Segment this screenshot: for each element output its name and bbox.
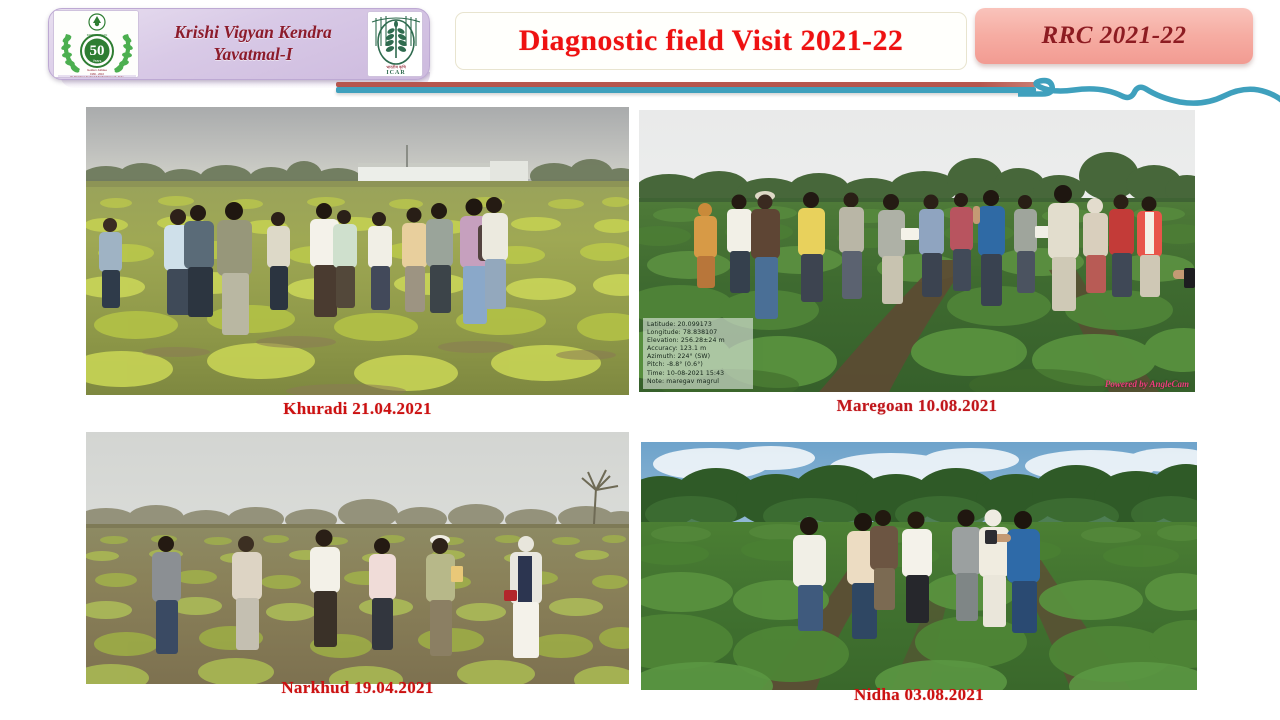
rrc-badge-label: RRC 2021-22 (1041, 22, 1186, 50)
svg-text:50: 50 (90, 43, 105, 59)
svg-text:KRISHI VIGYAN: KRISHI VIGYAN (87, 33, 107, 37)
gps-note: Note: maregav magrul (647, 378, 750, 386)
kvk-title-line1: Krishi Vigyan Kendra (143, 22, 363, 44)
page-title: Diagnostic field Visit 2021-22 (519, 24, 904, 58)
caption-khuradi: Khuradi 21.04.2021 (86, 399, 629, 419)
gps-time: Time: 10-08-2021 15:43 (647, 370, 750, 378)
photo-khuradi[interactable] (86, 107, 629, 395)
slide-canvas: 50 Years KRISHI VIGYAN Golden Jubilee 19… (0, 0, 1280, 720)
caption-narkhud: Narkhud 19.04.2021 (86, 678, 629, 698)
kvk-title-line2: Yavatmal-I (143, 44, 363, 66)
gps-stamp-overlay: Latitude: 20.099173 Longitude: 78.838107… (643, 318, 753, 390)
photo-narkhud-image (86, 432, 629, 684)
photo-narkhud-frame (86, 432, 629, 684)
photo-maregoan-frame: Latitude: 20.099173 Longitude: 78.838107… (639, 110, 1195, 392)
caption-nidha: Nidha 03.08.2021 (641, 685, 1197, 705)
photo-khuradi-image (86, 107, 629, 395)
photo-nidha-image (641, 442, 1197, 690)
svg-text:Golden Jubilee: Golden Jubilee (87, 68, 107, 72)
svg-text:ICAR: ICAR (386, 70, 405, 76)
gps-pitch: Pitch: -8.8° (0.6°) (647, 361, 750, 369)
photo-khuradi-frame (86, 107, 629, 395)
slide-title-plate: Diagnostic field Visit 2021-22 (455, 12, 967, 70)
photo-nidha-frame (641, 442, 1197, 690)
gps-latitude: Latitude: 20.099173 (647, 321, 750, 329)
slide-header: 50 Years KRISHI VIGYAN Golden Jubilee 19… (0, 0, 1280, 105)
anglecam-watermark: Powered by AngleCam (1105, 379, 1189, 389)
photo-nidha[interactable] (641, 442, 1197, 690)
kvk-golden-jubilee-logo-icon: 50 Years KRISHI VIGYAN Golden Jubilee 19… (53, 10, 139, 78)
wave-divider-icon (1018, 60, 1280, 112)
svg-text:Years: Years (93, 59, 102, 63)
photo-narkhud[interactable] (86, 432, 629, 684)
kvk-title: Krishi Vigyan Kendra Yavatmal-I (139, 22, 367, 66)
icar-wheat-logo-icon: भारतीय कृषि ICAR (367, 11, 423, 77)
svg-text:Dr. Panjabrao Deshmukh Krishi: Dr. Panjabrao Deshmukh Krishi Vidyapeeth… (70, 76, 124, 78)
caption-maregoan: Maregoan 10.08.2021 (639, 396, 1195, 416)
gps-elevation: Elevation: 256.28±24 m (647, 337, 750, 345)
gps-longitude: Longitude: 78.838107 (647, 329, 750, 337)
divider-teal-bar (336, 87, 1036, 93)
photo-maregoan[interactable]: Latitude: 20.099173 Longitude: 78.838107… (639, 110, 1195, 392)
kvk-identity-plate: 50 Years KRISHI VIGYAN Golden Jubilee 19… (48, 8, 430, 80)
rrc-badge: RRC 2021-22 (975, 8, 1253, 64)
